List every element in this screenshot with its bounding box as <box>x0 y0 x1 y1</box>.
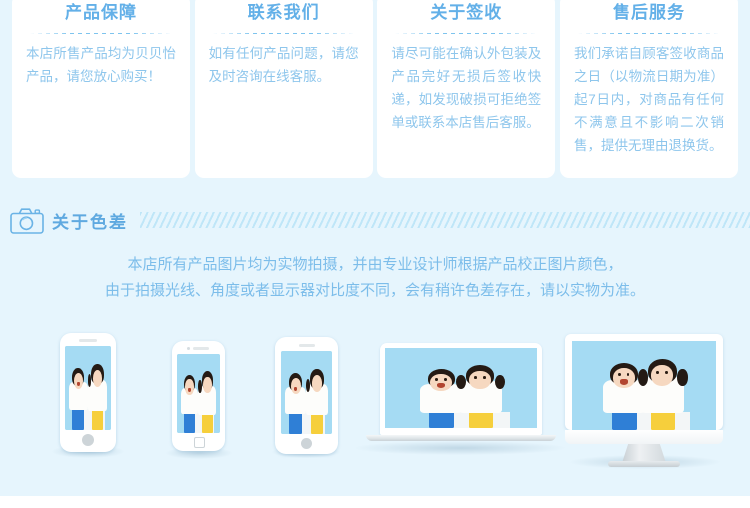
card-body: 请尽可能在确认外包装及产品完好无损后签收快递，如发现破损可拒绝签单或联系本店售后… <box>391 42 541 134</box>
card-body: 本店所售产品均为贝贝怡产品，请您放心购买！ <box>26 42 176 88</box>
note-line-1: 本店所有产品图片均为实物拍摄，并由专业设计师根据产品校正图片颜色， <box>0 252 750 278</box>
phone-3-speaker <box>299 344 315 347</box>
section-heading-color-difference: 关于色差 <box>0 203 750 237</box>
kid-girl <box>87 356 108 430</box>
card-body: 我们承诺自顾客签收商品之日（以物流日期为准）起7日内，对商品有任何不满意且不影响… <box>574 42 724 157</box>
product-photo <box>65 346 111 430</box>
laptop-lid <box>380 343 542 435</box>
info-card-row: 产品保障 本店所售产品均为贝贝怡产品，请您放心购买！ 联系我们 如有任何产品问题… <box>0 0 750 178</box>
product-photo <box>572 341 716 430</box>
phone-2 <box>172 341 225 451</box>
camera-icon <box>10 206 44 234</box>
page-root: 产品保障 本店所售产品均为贝贝怡产品，请您放心购买！ 联系我们 如有任何产品问题… <box>0 0 750 508</box>
note-line-2: 由于拍摄光线、角度或者显示器对比度不同，会有稍许色差存在，请以实物为准。 <box>0 278 750 304</box>
phone-1 <box>60 333 116 452</box>
card-title: 关于签收 <box>391 0 541 26</box>
kid-girl <box>198 363 218 433</box>
card-title: 售后服务 <box>574 0 724 26</box>
phone-2-screen <box>177 354 220 433</box>
info-card-about-signing: 关于签收 请尽可能在确认外包装及产品完好无损后签收快递，如发现破损可拒绝签单或联… <box>377 0 555 178</box>
monitor <box>565 334 723 462</box>
phone-2-camera-dot <box>187 347 190 350</box>
phone-3 <box>275 337 338 454</box>
kid-girl <box>458 356 504 428</box>
kid-boy <box>68 359 89 430</box>
info-card-contact-us: 联系我们 如有任何产品问题，请您及时咨询在线客服。 <box>195 0 373 178</box>
card-divider <box>395 33 537 34</box>
product-photo <box>385 348 537 428</box>
kid-girl <box>640 348 686 430</box>
hatch-stripes-decoration <box>140 212 750 228</box>
monitor-chin <box>565 430 723 444</box>
product-photo <box>281 351 332 434</box>
kid-boy <box>180 367 200 433</box>
monitor-screen <box>572 341 716 430</box>
card-title: 产品保障 <box>26 0 176 26</box>
card-title: 联系我们 <box>209 0 359 26</box>
monitor-body <box>565 334 723 430</box>
card-divider <box>578 33 720 34</box>
card-divider <box>30 33 172 34</box>
phone-1-screen <box>65 346 111 430</box>
phone-2-home-button[interactable] <box>194 437 205 448</box>
monitor-foot <box>608 461 680 467</box>
kid-girl <box>305 361 328 434</box>
product-photo <box>177 354 220 433</box>
card-divider <box>213 33 355 34</box>
laptop-screen <box>385 348 537 428</box>
section-title: 关于色差 <box>52 208 128 233</box>
card-body: 如有任何产品问题，请您及时咨询在线客服。 <box>209 42 359 88</box>
phone-2-speaker <box>193 347 209 350</box>
device-mockup-row <box>0 325 750 485</box>
phone-1-home-button[interactable] <box>82 434 94 446</box>
info-card-product-guarantee: 产品保障 本店所售产品均为贝贝怡产品，请您放心购买！ <box>12 0 190 178</box>
laptop-base <box>366 435 556 441</box>
info-card-after-sales: 售后服务 我们承诺自顾客签收商品之日（以物流日期为准）起7日内，对商品有任何不满… <box>560 0 738 178</box>
color-difference-note: 本店所有产品图片均为实物拍摄，并由专业设计师根据产品校正图片颜色， 由于拍摄光线… <box>0 252 750 304</box>
phone-3-screen <box>281 351 332 434</box>
kid-boy <box>284 364 307 434</box>
laptop <box>366 343 556 447</box>
phone-3-home-button[interactable] <box>301 438 312 449</box>
phone-1-speaker <box>79 339 97 342</box>
